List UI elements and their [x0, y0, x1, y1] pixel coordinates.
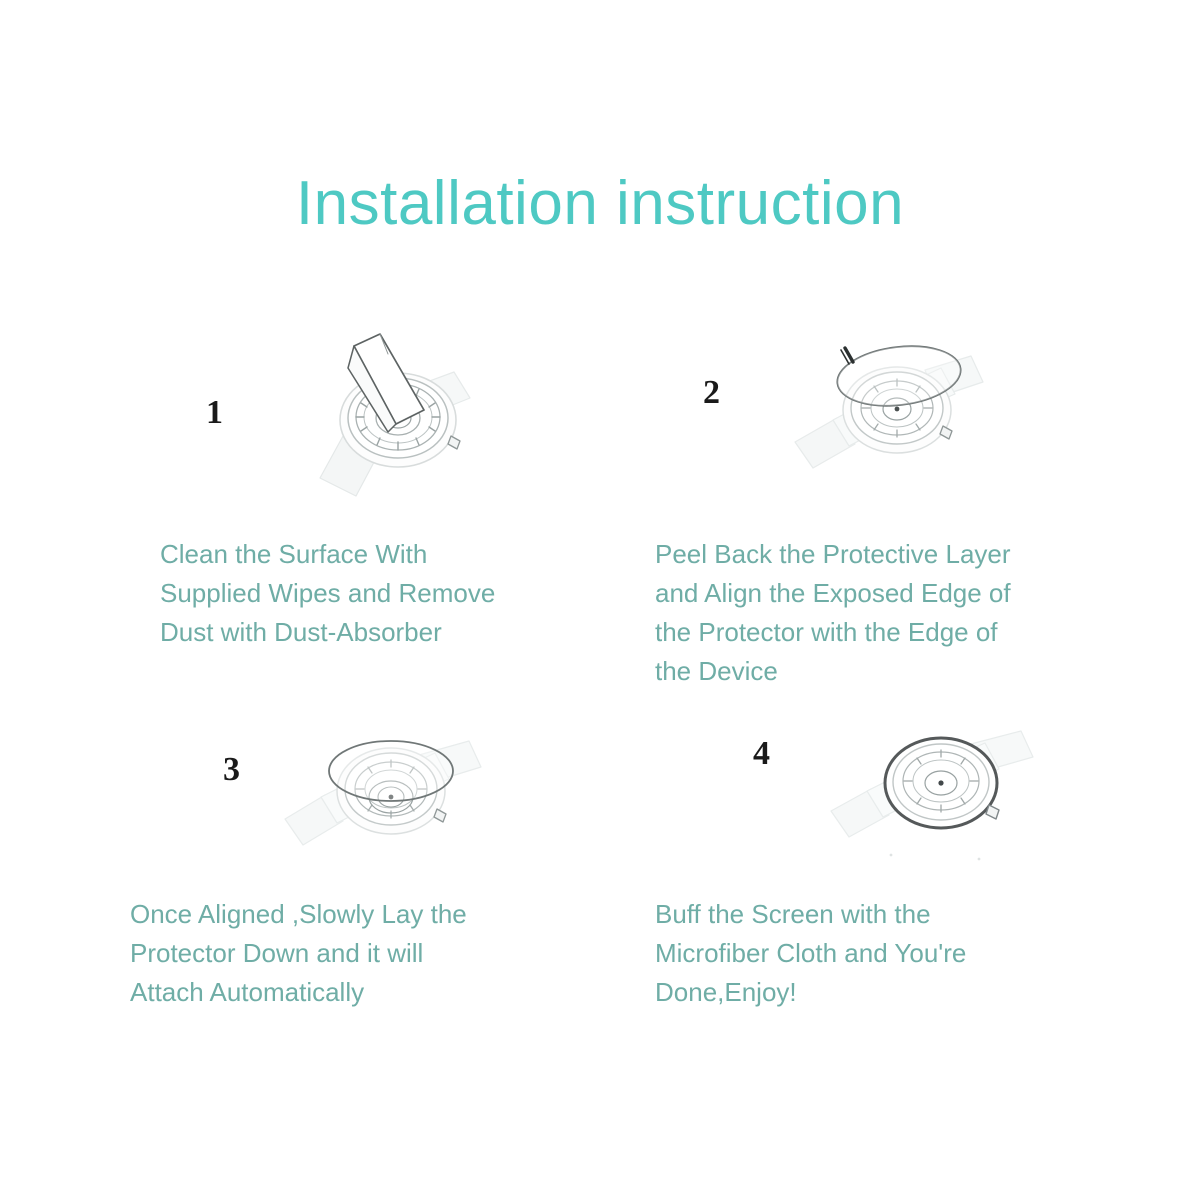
wristwatch-with-cleaning-wipe-icon [258, 328, 488, 518]
caption-line: Peel Back the Protective Layer [655, 535, 1105, 574]
step-number-3: 3 [223, 753, 240, 787]
caption-line: and Align the Exposed Edge of [655, 574, 1105, 613]
step-figure-2: 2 [645, 330, 1115, 510]
step-caption-1: Clean the Surface With Supplied Wipes an… [160, 535, 590, 652]
caption-line: the Protector with the Edge of [655, 613, 1105, 652]
installation-instruction-page: Installation instruction 1 [0, 0, 1200, 1200]
wristwatch-with-applied-protector-icon [825, 713, 1055, 878]
step-number-1: 1 [206, 396, 223, 430]
step-card-2: 2 [645, 330, 1115, 710]
caption-line: the Device [655, 652, 1105, 691]
step-card-1: 1 [150, 330, 620, 690]
caption-line: Dust with Dust-Absorber [160, 613, 590, 652]
caption-line: Protector Down and it will [130, 934, 550, 973]
step-card-3: 3 [120, 715, 590, 1025]
step-caption-2: Peel Back the Protective Layer and Align… [655, 535, 1105, 691]
caption-line: Done,Enjoy! [655, 973, 1075, 1012]
step-card-4: 4 [645, 715, 1115, 1025]
step-figure-3: 3 [120, 715, 590, 895]
wristwatch-with-protector-lowering-icon [275, 709, 505, 879]
step-number-4: 4 [753, 737, 770, 771]
caption-line: Microfiber Cloth and You're [655, 934, 1075, 973]
step-figure-1: 1 [150, 330, 620, 510]
caption-line: Clean the Surface With [160, 535, 590, 574]
step-figure-4: 4 [645, 715, 1115, 895]
caption-line: Attach Automatically [130, 973, 550, 1012]
step-caption-3: Once Aligned ,Slowly Lay the Protector D… [130, 895, 550, 1012]
caption-line: Supplied Wipes and Remove [160, 574, 590, 613]
step-number-2: 2 [703, 376, 720, 410]
caption-line: Buff the Screen with the [655, 895, 1075, 934]
wristwatch-with-peeling-protective-film-icon [775, 326, 1005, 491]
caption-line: Once Aligned ,Slowly Lay the [130, 895, 550, 934]
page-title: Installation instruction [0, 168, 1200, 239]
step-caption-4: Buff the Screen with the Microfiber Clot… [655, 895, 1075, 1012]
